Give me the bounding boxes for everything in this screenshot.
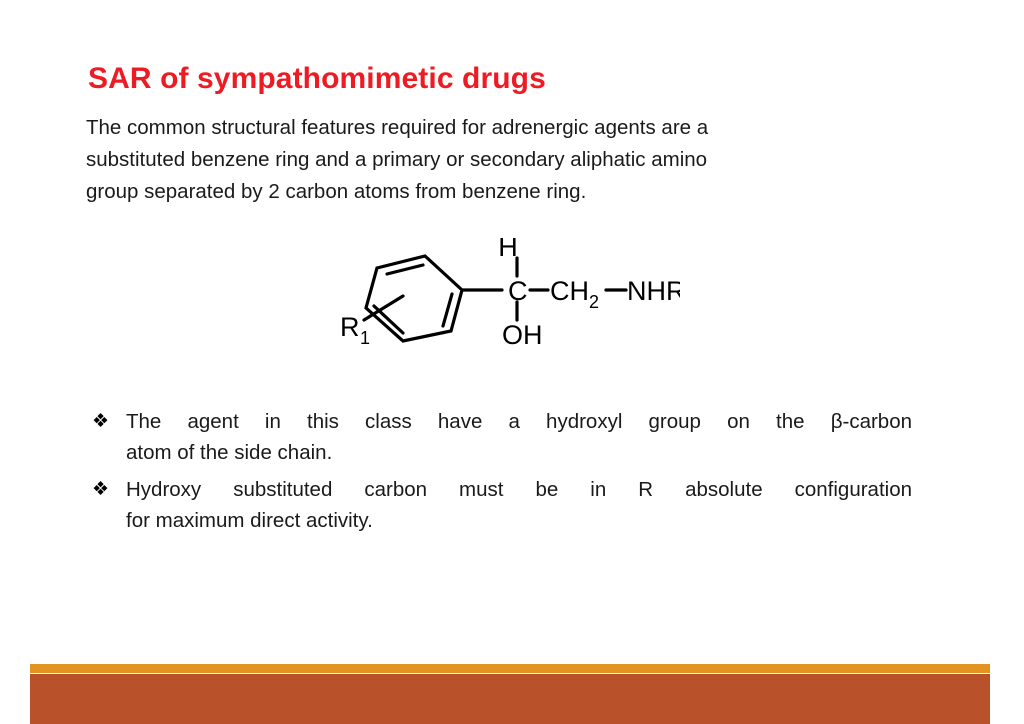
intro-line-1: The common structural features required … [86,112,922,144]
bullet-list: ❖ The agent in this class have a hydroxy… [92,406,912,542]
page-title: SAR of sympathomimetic drugs [88,62,546,97]
benzene-ring-icon [366,256,462,341]
list-item-line-1: The agent in this class have a hydroxyl … [126,406,912,437]
list-item-line-2: atom of the side chain. [126,437,912,468]
chemical-structure-diagram: R 1 H C OH CH 2 NHR [330,238,680,363]
list-item-line-1: Hydroxy substituted carbon must be in R … [126,474,912,505]
intro-line-2: substituted benzene ring and a primary o… [86,144,922,176]
list-item-text: The agent in this class have a hydroxyl … [126,406,912,468]
ring-substituent-label: R [340,312,360,342]
hydroxyl-label: OH [502,320,543,350]
phenylethanolamine-svg: R 1 H C OH CH 2 NHR [330,238,680,363]
diamond-bullet-icon: ❖ [92,474,109,505]
list-item: ❖ The agent in this class have a hydroxy… [92,406,912,468]
ring-substituent-subscript: 1 [360,328,370,348]
methylene-subscript: 2 [589,292,599,312]
amine-label: NHR [627,276,680,306]
intro-paragraph: The common structural features required … [86,112,922,208]
diamond-bullet-icon: ❖ [92,406,109,437]
list-item: ❖ Hydroxy substituted carbon must be in … [92,474,912,536]
alpha-carbon-label: C [508,276,528,306]
footer-accent-bar-orange [30,664,990,673]
slide-canvas: SAR of sympathomimetic drugs The common … [0,0,1024,724]
list-item-line-2: for maximum direct activity. [126,505,912,536]
hydrogen-label: H [498,238,518,262]
footer-accent-bar-brown [30,674,990,724]
intro-line-3: group separated by 2 carbon atoms from b… [86,176,922,208]
list-item-text: Hydroxy substituted carbon must be in R … [126,474,912,536]
methylene-label: CH [550,276,589,306]
